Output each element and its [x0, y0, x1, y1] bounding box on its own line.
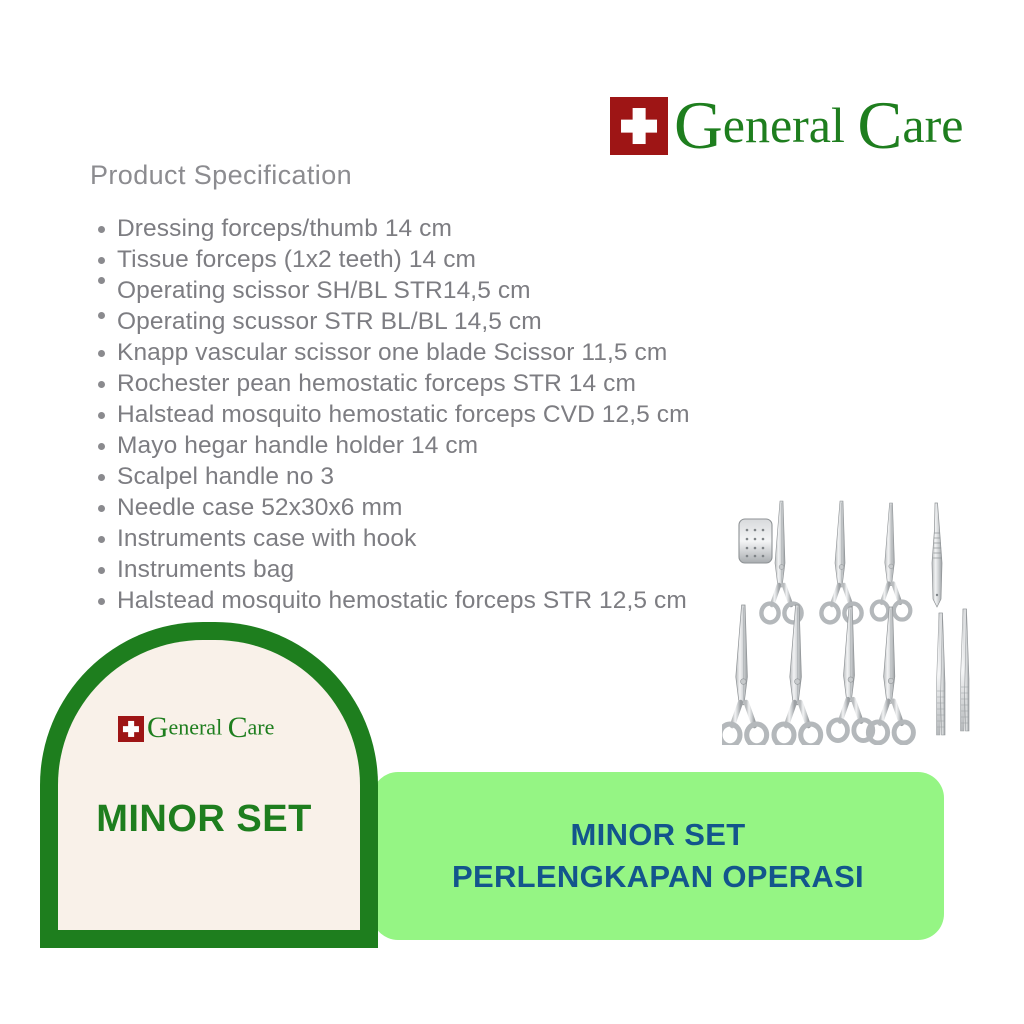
bullet-icon: [98, 567, 105, 574]
banner-title-line2: PERLENGKAPAN OPERASI: [452, 856, 864, 898]
list-item-label: Halstead mosquito hemostatic forceps STR…: [117, 587, 687, 614]
bullet-icon: [98, 598, 105, 605]
list-item: Tissue forceps (1x2 teeth) 14 cm: [90, 244, 830, 275]
product-badge: General Care MINOR SET: [40, 622, 378, 948]
bullet-icon: [98, 381, 105, 388]
list-item-label: Instruments bag: [117, 556, 294, 583]
brand-word-general: eneral: [168, 714, 222, 739]
brand-initial-g: G: [674, 88, 723, 163]
scalpel-handle-icon: [932, 503, 942, 607]
brand-initial-c: C: [228, 712, 248, 744]
list-item-label: Operating scussor STR BL/BL 14,5 cm: [117, 308, 542, 335]
list-item: Operating scissor SH/BL STR14,5 cm: [90, 275, 830, 306]
list-item: Halstead mosquito hemostatic forceps STR…: [90, 585, 830, 616]
brand-logo-badge: General Care: [118, 714, 274, 744]
list-item-label: Mayo hegar handle holder 14 cm: [117, 432, 478, 459]
bullet-icon: [98, 474, 105, 481]
bullet-icon: [98, 277, 105, 284]
brand-initial-c: C: [857, 88, 902, 163]
brand-word-general: eneral: [723, 97, 845, 153]
product-specification-block: Product Specification Dressing forceps/t…: [90, 160, 830, 616]
bullet-icon: [98, 312, 105, 319]
list-item: Scalpel handle no 3: [90, 461, 830, 492]
list-item-label: Needle case 52x30x6 mm: [117, 494, 402, 521]
list-item-label: Dressing forceps/thumb 14 cm: [117, 215, 452, 242]
banner-title-line1: MINOR SET: [571, 814, 746, 856]
list-item-label: Tissue forceps (1x2 teeth) 14 cm: [117, 246, 476, 273]
specification-list: Dressing forceps/thumb 14 cm Tissue forc…: [90, 213, 830, 616]
bullet-icon: [98, 226, 105, 233]
list-item: Knapp vascular scissor one blade Scissor…: [90, 337, 830, 368]
badge-inner-fill: General Care MINOR SET: [58, 640, 360, 930]
list-item: Instruments bag: [90, 554, 830, 585]
list-item-label: Operating scissor SH/BL STR14,5 cm: [117, 277, 531, 304]
instruments-illustration: [722, 495, 984, 745]
brand-name: General Care: [147, 714, 274, 744]
brand-initial-g: G: [147, 712, 168, 744]
list-item-label: Rochester pean hemostatic forceps STR 14…: [117, 370, 636, 397]
needle-case-icon: [739, 519, 772, 563]
bullet-icon: [98, 443, 105, 450]
page-title: Product Specification: [90, 160, 830, 191]
medical-cross-icon: [118, 716, 144, 742]
list-item: Instruments case with hook: [90, 523, 830, 554]
list-item: Needle case 52x30x6 mm: [90, 492, 830, 523]
list-item-label: Instruments case with hook: [117, 525, 416, 552]
list-item: Rochester pean hemostatic forceps STR 14…: [90, 368, 830, 399]
brand-logo-header: General Care: [610, 92, 963, 160]
list-item-label: Knapp vascular scissor one blade Scissor…: [117, 339, 667, 366]
list-item: Mayo hegar handle holder 14 cm: [90, 430, 830, 461]
bullet-icon: [98, 412, 105, 419]
bullet-icon: [98, 350, 105, 357]
list-item: Halstead mosquito hemostatic forceps CVD…: [90, 399, 830, 430]
list-item-label: Halstead mosquito hemostatic forceps CVD…: [117, 401, 690, 428]
product-photo-instruments: [722, 495, 984, 745]
brand-word-care: are: [248, 714, 275, 739]
list-item-label: Scalpel handle no 3: [117, 463, 334, 490]
brand-word-care: are: [902, 97, 963, 153]
list-item: Dressing forceps/thumb 14 cm: [90, 213, 830, 244]
badge-title: MINOR SET: [58, 798, 360, 841]
bullet-icon: [98, 505, 105, 512]
bullet-icon: [98, 257, 105, 264]
promo-banner: MINOR SET PERLENGKAPAN OPERASI: [372, 772, 944, 940]
bullet-icon: [98, 536, 105, 543]
brand-name: General Care: [674, 92, 963, 160]
list-item: Operating scussor STR BL/BL 14,5 cm: [90, 306, 830, 337]
medical-cross-icon: [610, 97, 668, 155]
